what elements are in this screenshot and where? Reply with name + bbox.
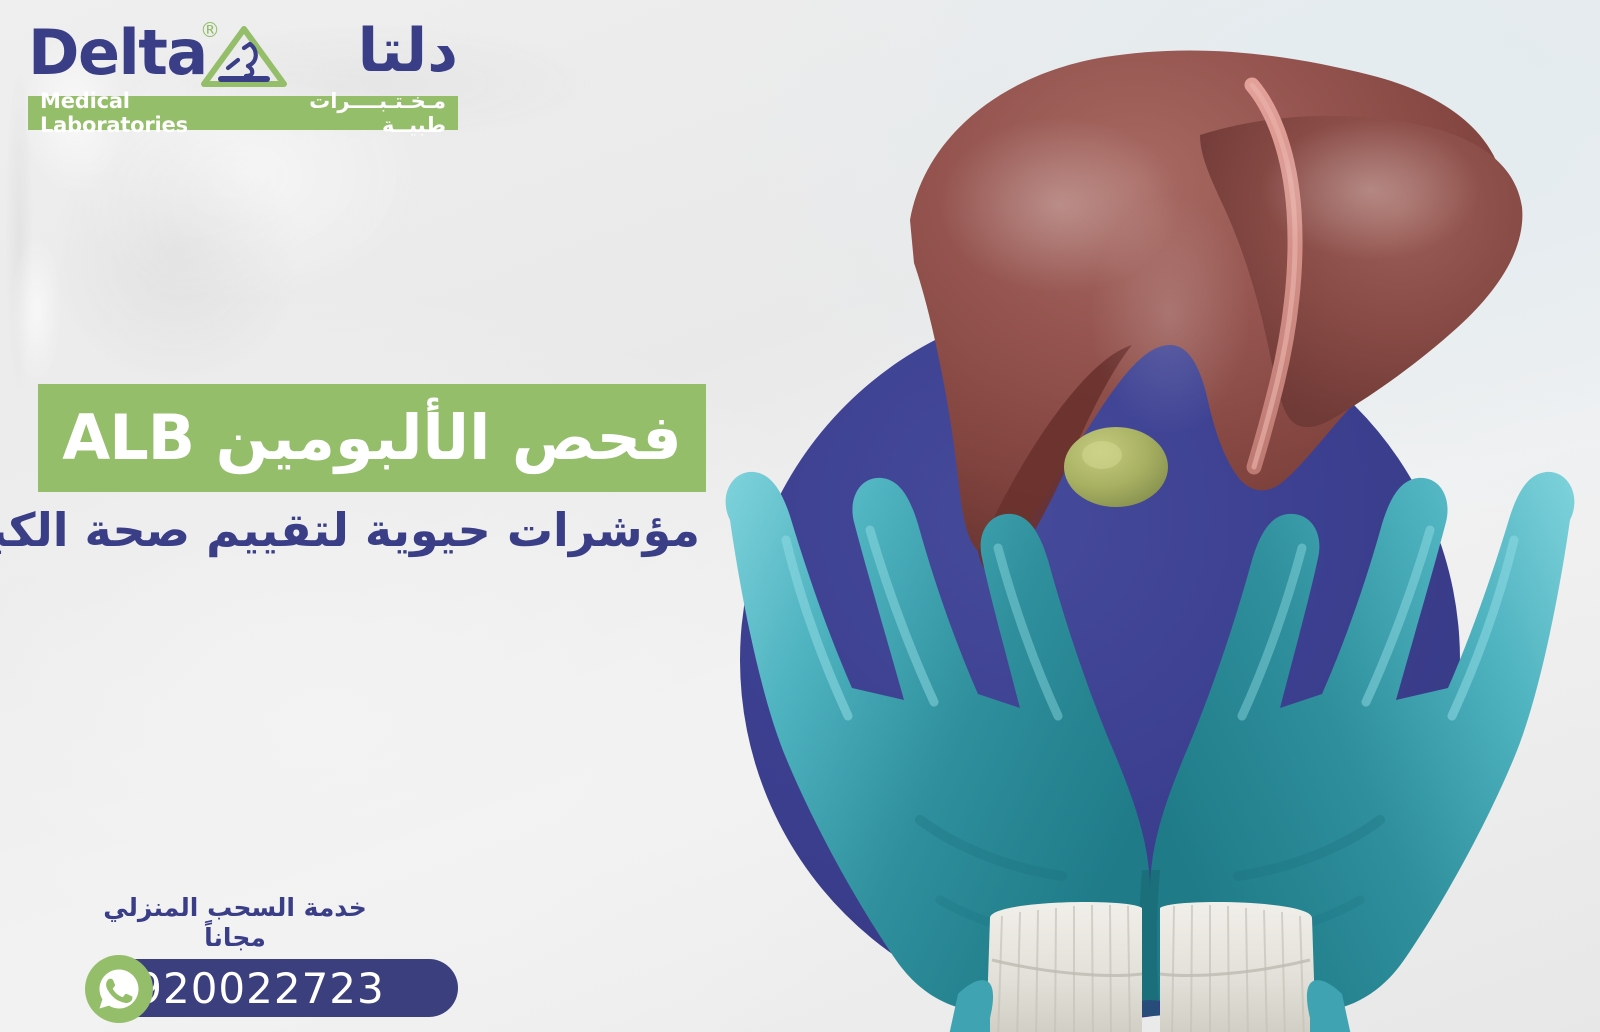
logo-top-row: Delta ® دلتا — [28, 18, 458, 94]
brand-name-ar: دلتا — [358, 20, 458, 83]
subtitle-text: مؤشرات حيوية لتقييم صحة الكبد — [0, 505, 700, 556]
service-note: خدمة السحب المنزلي مجاناً — [70, 893, 400, 953]
logo-tagline-bar: Medical Laboratories مـخـتـبــــرات طبيـ… — [28, 96, 458, 130]
brand-name-en: Delta — [28, 22, 207, 84]
brand-logo[interactable]: Delta ® دلتا Medical Laboratories مـخـتـ… — [28, 18, 458, 130]
gloved-hands-icon — [690, 400, 1600, 1032]
whatsapp-icon[interactable] — [85, 955, 153, 1023]
microscope-in-triangle-icon — [198, 24, 290, 90]
artwork-group — [700, 0, 1600, 1032]
phone-number: 920022723 — [135, 964, 413, 1013]
headline-banner: فحص الألبومين ALB — [38, 384, 706, 492]
whatsapp-glyph — [95, 965, 143, 1013]
contact-block: خدمة السحب المنزلي مجاناً 920022723 — [38, 893, 458, 1023]
tagline-ar: مـخـتـبــــرات طبيــة — [259, 89, 446, 137]
tagline-en: Medical Laboratories — [40, 89, 259, 137]
headline-text: فحص الألبومين ALB — [62, 407, 682, 469]
phone-row[interactable]: 920022723 — [38, 959, 458, 1023]
poster-canvas: Delta ® دلتا Medical Laboratories مـخـتـ… — [0, 0, 1600, 1032]
